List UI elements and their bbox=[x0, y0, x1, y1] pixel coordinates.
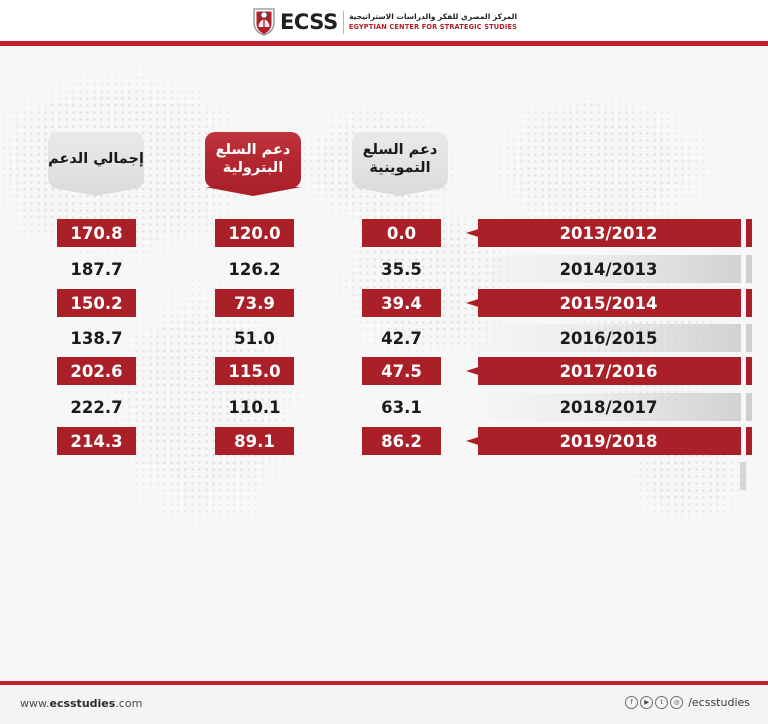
footer-website[interactable]: www.ecsstudies.com bbox=[20, 697, 142, 710]
brand-logo: ECSS المركز المصري للفكر والدراسات الاست… bbox=[0, 6, 768, 38]
year-tick bbox=[746, 357, 752, 385]
value-total: 138.7 bbox=[57, 324, 136, 352]
website-suffix: .com bbox=[115, 697, 142, 710]
instagram-icon[interactable]: ◎ bbox=[670, 696, 683, 709]
value-total: 187.7 bbox=[57, 255, 136, 283]
year-label: 2018/2017 bbox=[466, 393, 741, 421]
value-food: 35.5 bbox=[362, 255, 441, 283]
column-header-total-subsidy: إجمالي الدعم bbox=[48, 132, 144, 188]
year-tick bbox=[746, 324, 752, 352]
year-row: 2016/2015 bbox=[466, 324, 746, 352]
year-row: 2017/2016 bbox=[466, 357, 746, 385]
year-row: 2018/2017 bbox=[466, 393, 746, 421]
youtube-icon[interactable]: ▶ bbox=[640, 696, 653, 709]
value-petro: 120.0 bbox=[215, 219, 294, 247]
value-petro: 51.0 bbox=[215, 324, 294, 352]
website-brand: ecsstudies bbox=[49, 697, 115, 710]
value-food: 42.7 bbox=[362, 324, 441, 352]
logo-divider bbox=[343, 11, 344, 34]
value-total: 150.2 bbox=[57, 289, 136, 317]
social-handle[interactable]: /ecsstudies bbox=[688, 696, 750, 709]
year-tick bbox=[746, 427, 752, 455]
year-row: 2015/2014 bbox=[466, 289, 746, 317]
logo-name-arabic: المركز المصري للفكر والدراسات الاستراتيج… bbox=[349, 12, 517, 22]
year-row: 2014/2013 bbox=[466, 255, 746, 283]
value-food: 47.5 bbox=[362, 357, 441, 385]
year-tick bbox=[746, 393, 752, 421]
twitter-icon[interactable]: t bbox=[655, 696, 668, 709]
value-petro: 110.1 bbox=[215, 393, 294, 421]
year-tick bbox=[746, 255, 752, 283]
year-tick bbox=[746, 219, 752, 247]
year-row: 2013/2012 bbox=[466, 219, 746, 247]
value-total: 202.6 bbox=[57, 357, 136, 385]
website-prefix: www. bbox=[20, 697, 49, 710]
header-red-rule bbox=[0, 41, 768, 46]
year-label: 2019/2018 bbox=[466, 427, 741, 455]
value-total: 214.3 bbox=[57, 427, 136, 455]
year-label: 2013/2012 bbox=[466, 219, 741, 247]
infographic-canvas: ECSS المركز المصري للفكر والدراسات الاست… bbox=[0, 0, 768, 724]
ecss-logo-icon bbox=[251, 7, 277, 37]
column-header-food-subsidy: دعم السلع التموينية bbox=[352, 132, 448, 188]
year-label: 2014/2013 bbox=[466, 255, 741, 283]
value-petro: 73.9 bbox=[215, 289, 294, 317]
year-row: 2019/2018 bbox=[466, 427, 746, 455]
year-label: 2015/2014 bbox=[466, 289, 741, 317]
footer-social-links: f ▶ t ◎ /ecsstudies bbox=[625, 696, 750, 709]
logo-acronym: ECSS bbox=[280, 12, 338, 33]
year-tick bbox=[746, 289, 752, 317]
value-petro: 115.0 bbox=[215, 357, 294, 385]
logo-name-english: EGYPTIAN CENTER FOR STRATEGIC STUDIES bbox=[349, 23, 517, 32]
value-total: 222.7 bbox=[57, 393, 136, 421]
value-food: 0.0 bbox=[362, 219, 441, 247]
facebook-icon[interactable]: f bbox=[625, 696, 638, 709]
value-total: 170.8 bbox=[57, 219, 136, 247]
column-header-petroleum-subsidy: دعم السلع البترولية bbox=[205, 132, 301, 188]
value-petro: 89.1 bbox=[215, 427, 294, 455]
value-food: 86.2 bbox=[362, 427, 441, 455]
year-tick-trailing bbox=[740, 462, 746, 490]
value-petro: 126.2 bbox=[215, 255, 294, 283]
value-food: 63.1 bbox=[362, 393, 441, 421]
value-food: 39.4 bbox=[362, 289, 441, 317]
year-label: 2017/2016 bbox=[466, 357, 741, 385]
year-label: 2016/2015 bbox=[466, 324, 741, 352]
